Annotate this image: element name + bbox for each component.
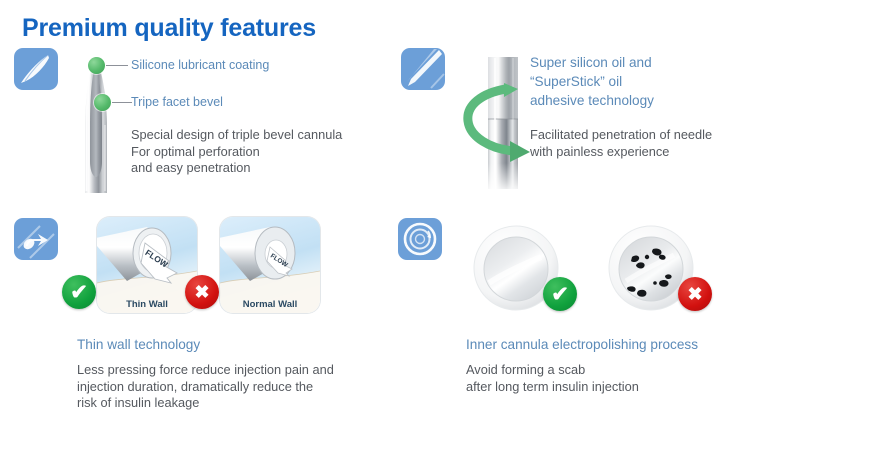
feature-heading-super-silicon-oil: Super silicon oil and “SuperStick” oil a… [530, 53, 654, 110]
feature-heading-electropolishing: Inner cannula electropolishing process [466, 337, 698, 352]
callout-label-silicone-lubricant-coating: Silicone lubricant coating [131, 58, 269, 72]
infographic-canvas: Premium quality features [0, 0, 876, 467]
feature-body-thin-wall: Less pressing force reduce injection pai… [77, 362, 387, 412]
feature-panel-super-silicon-oil: Super silicon oil and “SuperStick” oil a… [400, 45, 876, 205]
feature-body-triple-bevel: Special design of triple bevel cannula F… [131, 127, 421, 177]
feature-panel-thin-wall: FLOW Thin Wall ✔ [0, 215, 400, 445]
wall-caption-thin: Thin Wall [97, 299, 197, 310]
verdict-badge-thin-wall: ✔ [62, 275, 96, 309]
diagonal-needle-icon [401, 48, 445, 90]
callout-marker-1 [88, 57, 105, 74]
feature-body-electropolishing: Avoid forming a scab after long term ins… [466, 362, 796, 395]
page-title: Premium quality features [22, 14, 316, 43]
thin-wall-arrow-icon [14, 218, 58, 260]
wall-tile-thin: FLOW Thin Wall [97, 217, 197, 313]
wall-tile-normal: FLOW Normal Wall [220, 217, 320, 313]
wall-caption-normal: Normal Wall [220, 299, 320, 310]
callout-leader-2 [112, 102, 132, 103]
concentric-circles-icon [398, 218, 442, 260]
needle-bevel-icon [14, 48, 58, 90]
callout-label-tripe-facet-bevel: Tripe facet bevel [131, 95, 223, 109]
verdict-badge-polished: ✔ [543, 277, 577, 311]
verdict-badge-scab: ✖ [678, 277, 712, 311]
feature-heading-thin-wall: Thin wall technology [77, 337, 200, 352]
feature-panel-electropolishing: ✔ [395, 215, 876, 445]
feature-panel-triple-bevel: Silicone lubricant coating Tripe facet b… [0, 45, 440, 205]
verdict-badge-normal-wall: ✖ [185, 275, 219, 309]
callout-marker-2 [94, 94, 111, 111]
callout-leader-1 [106, 65, 128, 66]
feature-body-super-silicon-oil: Facilitated penetration of needle with p… [530, 127, 830, 160]
